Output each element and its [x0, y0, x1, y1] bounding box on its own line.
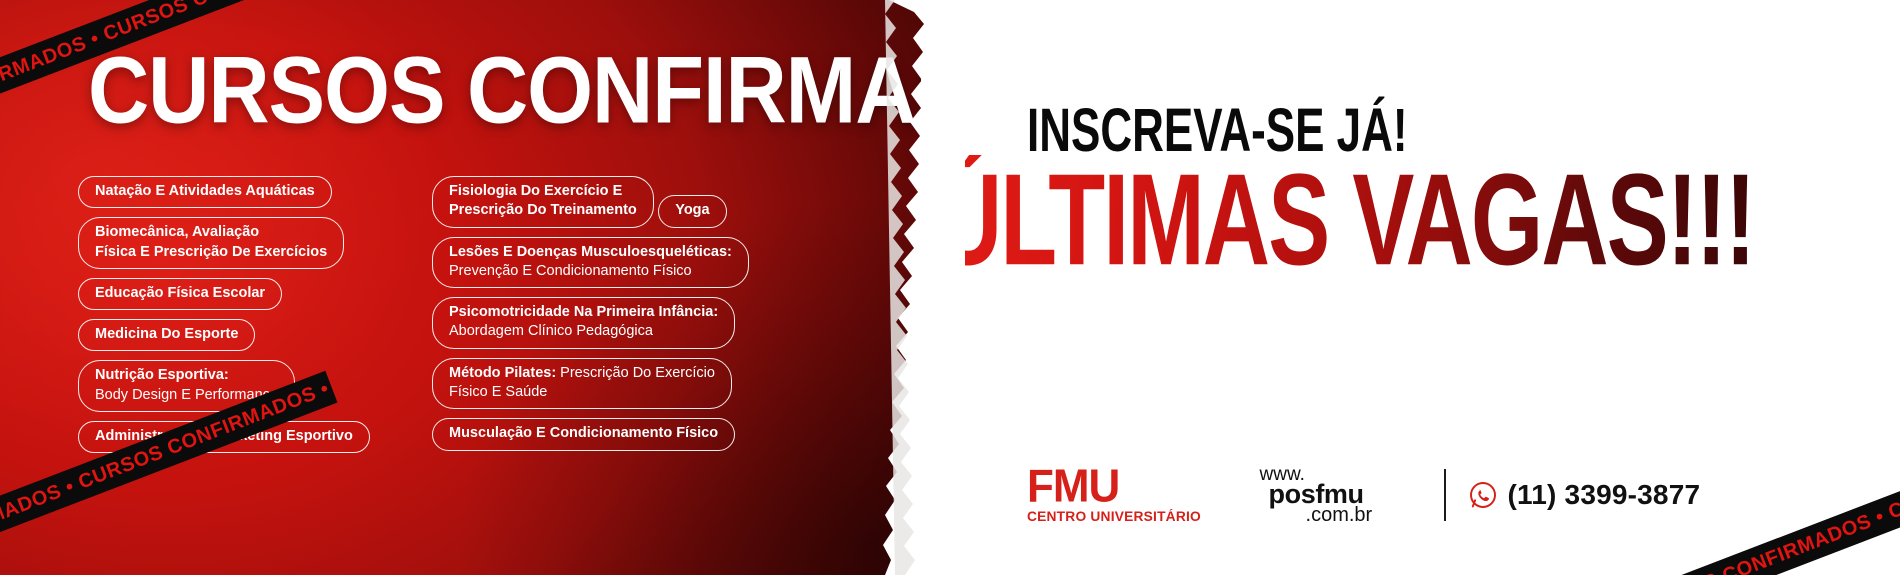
course-pill[interactable]: Musculação E Condicionamento Físico — [432, 418, 735, 450]
course-title: Biomecânica, Avaliação — [95, 223, 327, 242]
fmu-tagline: CENTRO UNIVERSITÁRIO — [1027, 509, 1201, 524]
course-title: Nutrição Esportiva: — [95, 366, 278, 385]
page-title: CURSOS CONFIRMADOS! — [88, 46, 925, 137]
course-list-column-2: Fisiologia Do Exercício E Prescrição Do … — [432, 176, 772, 460]
left-red-panel: CURSOS CONFIRMADOS! Natação E Atividades… — [0, 0, 925, 575]
course-title: Musculação E Condicionamento Físico — [449, 425, 718, 441]
course-pill[interactable]: Educação Física Escolar — [78, 278, 282, 310]
course-subtitle: Abordagem Clínico Pedagógica — [449, 322, 718, 341]
phone-number: (11) 3399-3877 — [1508, 479, 1701, 511]
course-title: Fisiologia Do Exercício E — [449, 182, 637, 201]
whatsapp-icon — [1468, 480, 1498, 510]
course-title-2: Prescrição Do Treinamento — [449, 201, 637, 220]
course-pill[interactable]: Psicomotricidade Na Primeira Infância: A… — [432, 297, 735, 349]
footer-bar: FMU CENTRO UNIVERSITÁRIO www. posfmu .co… — [925, 440, 1900, 550]
website-url[interactable]: www. posfmu .com.br — [1260, 462, 1410, 528]
course-pill[interactable]: Lesões E Doenças Musculoesqueléticas: Pr… — [432, 237, 749, 289]
url-suffix: .com.br — [1306, 504, 1373, 527]
contact-block[interactable]: (11) 3399-3877 — [1468, 479, 1701, 511]
fmu-logo: FMU CENTRO UNIVERSITÁRIO — [1027, 466, 1198, 524]
course-title: Medicina Do Esporte — [95, 326, 238, 342]
course-title: Psicomotricidade Na Primeira Infância: — [449, 303, 718, 322]
course-pill[interactable]: Fisiologia Do Exercício E Prescrição Do … — [432, 176, 654, 228]
course-pill[interactable]: Yoga — [658, 195, 726, 227]
course-title: Lesões E Doenças Musculoesqueléticas: — [449, 243, 732, 262]
course-pill[interactable]: Natação E Atividades Aquáticas — [78, 176, 332, 208]
right-white-panel: INSCREVA-SE JÁ! ÚLTIMAS VAGAS!!! FMU CEN… — [925, 0, 1900, 575]
vertical-divider — [1444, 469, 1446, 521]
course-pill[interactable]: Método Pilates: Prescrição Do Exercício … — [432, 358, 732, 410]
course-pill[interactable]: Medicina Do Esporte — [78, 319, 255, 351]
cta-headline: ÚLTIMAS VAGAS!!! — [935, 155, 1754, 285]
course-title: Natação E Atividades Aquáticas — [95, 183, 315, 199]
course-subtitle: Físico E Saúde — [449, 383, 715, 402]
course-subtitle: Prevenção E Condicionamento Físico — [449, 262, 732, 281]
course-title-2: Física E Prescrição De Exercícios — [95, 243, 327, 262]
course-pill[interactable]: Biomecânica, Avaliação Física E Prescriç… — [78, 217, 344, 269]
fmu-wordmark: FMU — [1027, 466, 1198, 508]
course-title: Yoga — [675, 202, 709, 218]
course-title: Educação Física Escolar — [95, 285, 265, 301]
course-title-inline: Prescrição Do Exercício — [556, 365, 715, 381]
course-title: Método Pilates: — [449, 365, 556, 381]
promo-banner: CURSOS CONFIRMADOS! Natação E Atividades… — [0, 0, 1900, 575]
